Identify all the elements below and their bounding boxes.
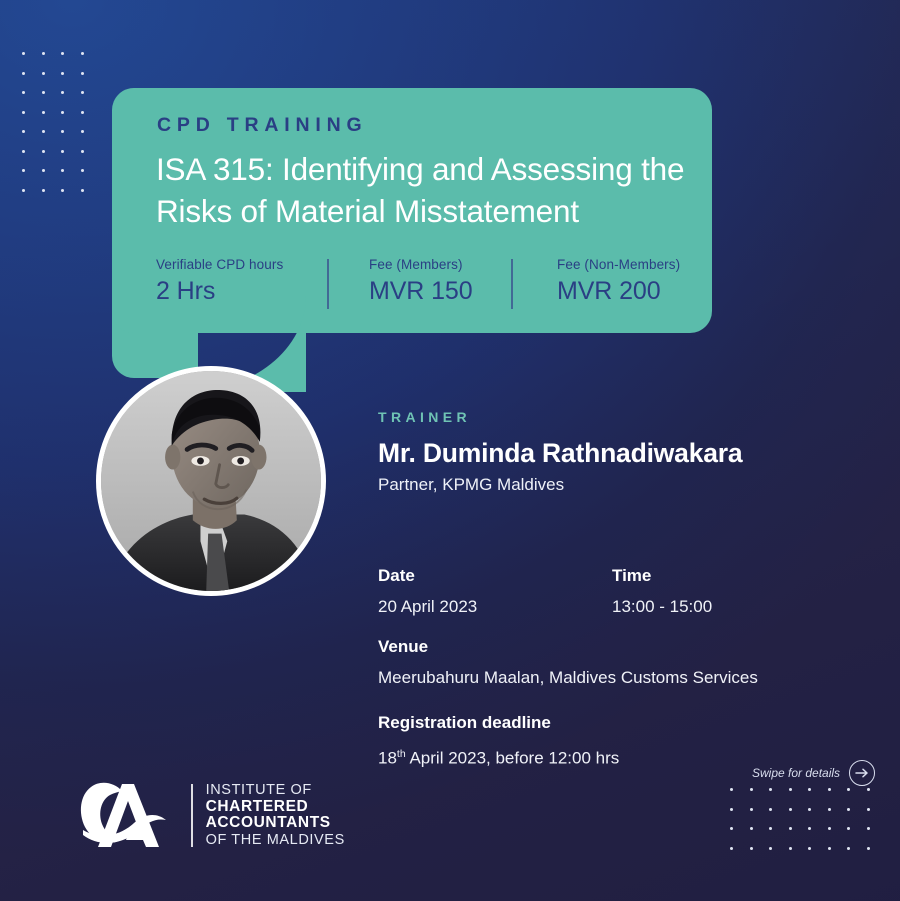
decorative-dot xyxy=(847,808,850,811)
decorative-dot xyxy=(828,808,831,811)
decorative-dot xyxy=(42,189,45,192)
decorative-dot xyxy=(769,847,772,850)
decorative-dot xyxy=(769,788,772,791)
ca-logo-wordmark: INSTITUTE OF CHARTERED ACCOUNTANTS OF TH… xyxy=(206,782,345,848)
trainer-block: TRAINER Mr. Duminda Rathnadiwakara Partn… xyxy=(378,408,742,497)
swipe-for-details-hint[interactable]: Swipe for details xyxy=(752,760,875,786)
fact-fee-members: Fee (Members) MVR 150 xyxy=(369,256,473,308)
arrow-right-circle-icon[interactable] xyxy=(849,760,875,786)
decorative-dot xyxy=(22,130,25,133)
decorative-dot-grid-bottom-right xyxy=(730,788,875,853)
deadline-day: 18 xyxy=(378,749,397,768)
logo-line-of-the-maldives: OF THE MALDIVES xyxy=(206,832,345,849)
decorative-dot xyxy=(42,130,45,133)
decorative-dot xyxy=(730,808,733,811)
decorative-dot xyxy=(867,808,870,811)
decorative-dot xyxy=(730,847,733,850)
trainer-eyebrow-label: TRAINER xyxy=(378,408,742,426)
decorative-dot xyxy=(789,788,792,791)
fact-divider xyxy=(327,259,329,309)
trainer-role: Partner, KPMG Maldives xyxy=(378,473,742,497)
decorative-dot xyxy=(808,788,811,791)
fact-value: MVR 200 xyxy=(557,275,680,308)
decorative-dot xyxy=(22,91,25,94)
fact-label: Fee (Non-Members) xyxy=(557,256,680,274)
decorative-dot xyxy=(22,169,25,172)
decorative-dot xyxy=(61,52,64,55)
decorative-dot xyxy=(81,130,84,133)
fact-label: Fee (Members) xyxy=(369,256,473,274)
fact-label: Verifiable CPD hours xyxy=(156,256,283,274)
decorative-dot xyxy=(750,808,753,811)
ca-institute-logo: INSTITUTE OF CHARTERED ACCOUNTANTS OF TH… xyxy=(78,778,345,852)
decorative-dot xyxy=(828,788,831,791)
fact-value: MVR 150 xyxy=(369,275,473,308)
event-details-block: Date 20 April 2023 Time 13:00 - 15:00 Ve… xyxy=(378,564,818,771)
detail-time: Time 13:00 - 15:00 xyxy=(612,564,712,619)
cpd-course-title: ISA 315: Identifying and Assessing the R… xyxy=(156,148,701,232)
decorative-dot xyxy=(61,150,64,153)
decorative-dot xyxy=(808,827,811,830)
decorative-dot xyxy=(867,788,870,791)
deadline-rest: April 2023, before 12:00 hrs xyxy=(406,749,620,768)
decorative-dot xyxy=(61,189,64,192)
decorative-dot xyxy=(42,91,45,94)
deadline-ordinal: th xyxy=(397,748,406,760)
decorative-dot xyxy=(81,111,84,114)
decorative-dot xyxy=(730,827,733,830)
trainer-name: Mr. Duminda Rathnadiwakara xyxy=(378,435,742,471)
detail-value: 20 April 2023 xyxy=(378,595,477,619)
detail-value: Meerubahuru Maalan, Maldives Customs Ser… xyxy=(378,666,818,690)
decorative-dot xyxy=(42,72,45,75)
decorative-dot xyxy=(750,847,753,850)
logo-divider-rule xyxy=(191,784,193,847)
detail-value: 13:00 - 15:00 xyxy=(612,595,712,619)
decorative-dot xyxy=(730,788,733,791)
decorative-dot xyxy=(22,72,25,75)
decorative-dot xyxy=(42,52,45,55)
decorative-dot xyxy=(22,150,25,153)
fact-fee-non-members: Fee (Non-Members) MVR 200 xyxy=(557,256,680,308)
decorative-dot xyxy=(22,52,25,55)
decorative-dot xyxy=(61,111,64,114)
decorative-dot xyxy=(81,150,84,153)
detail-date: Date 20 April 2023 xyxy=(378,564,477,619)
decorative-dot xyxy=(828,827,831,830)
cpd-eyebrow-label: CPD TRAINING xyxy=(157,114,367,137)
decorative-dot xyxy=(81,91,84,94)
decorative-dot xyxy=(847,827,850,830)
decorative-dot xyxy=(81,169,84,172)
decorative-dot xyxy=(808,847,811,850)
decorative-dot xyxy=(42,111,45,114)
decorative-dot xyxy=(847,847,850,850)
decorative-dot xyxy=(789,808,792,811)
decorative-dot xyxy=(22,111,25,114)
detail-venue: Venue Meerubahuru Maalan, Maldives Custo… xyxy=(378,635,818,690)
swipe-hint-label: Swipe for details xyxy=(752,766,840,780)
trainer-portrait-photo xyxy=(96,366,326,596)
decorative-dot xyxy=(61,130,64,133)
detail-label: Venue xyxy=(378,635,818,659)
decorative-dot xyxy=(769,827,772,830)
decorative-dot xyxy=(61,72,64,75)
decorative-dot xyxy=(42,150,45,153)
decorative-dot xyxy=(81,52,84,55)
logo-line-accountants: ACCOUNTANTS xyxy=(206,815,345,832)
decorative-dot xyxy=(789,847,792,850)
logo-line-chartered: CHARTERED xyxy=(206,799,345,816)
decorative-dot xyxy=(750,788,753,791)
decorative-dot xyxy=(81,72,84,75)
decorative-dot xyxy=(81,189,84,192)
ca-monogram-icon xyxy=(78,778,182,852)
detail-label: Registration deadline xyxy=(378,711,818,735)
poster-canvas: CPD TRAINING ISA 315: Identifying and As… xyxy=(0,0,900,901)
decorative-dot xyxy=(750,827,753,830)
detail-label: Date xyxy=(378,564,477,588)
decorative-dot xyxy=(769,808,772,811)
fact-divider xyxy=(511,259,513,309)
date-time-row: Date 20 April 2023 Time 13:00 - 15:00 xyxy=(378,564,818,622)
decorative-dot xyxy=(42,169,45,172)
decorative-dot-grid-top-left xyxy=(22,52,102,197)
decorative-dot xyxy=(789,827,792,830)
decorative-dot xyxy=(828,847,831,850)
detail-label: Time xyxy=(612,564,712,588)
decorative-dot xyxy=(867,827,870,830)
decorative-dot xyxy=(808,808,811,811)
decorative-dot xyxy=(847,788,850,791)
logo-line-institute-of: INSTITUTE OF xyxy=(206,782,345,799)
decorative-dot xyxy=(22,189,25,192)
decorative-dot xyxy=(61,91,64,94)
decorative-dot xyxy=(61,169,64,172)
decorative-dot xyxy=(867,847,870,850)
